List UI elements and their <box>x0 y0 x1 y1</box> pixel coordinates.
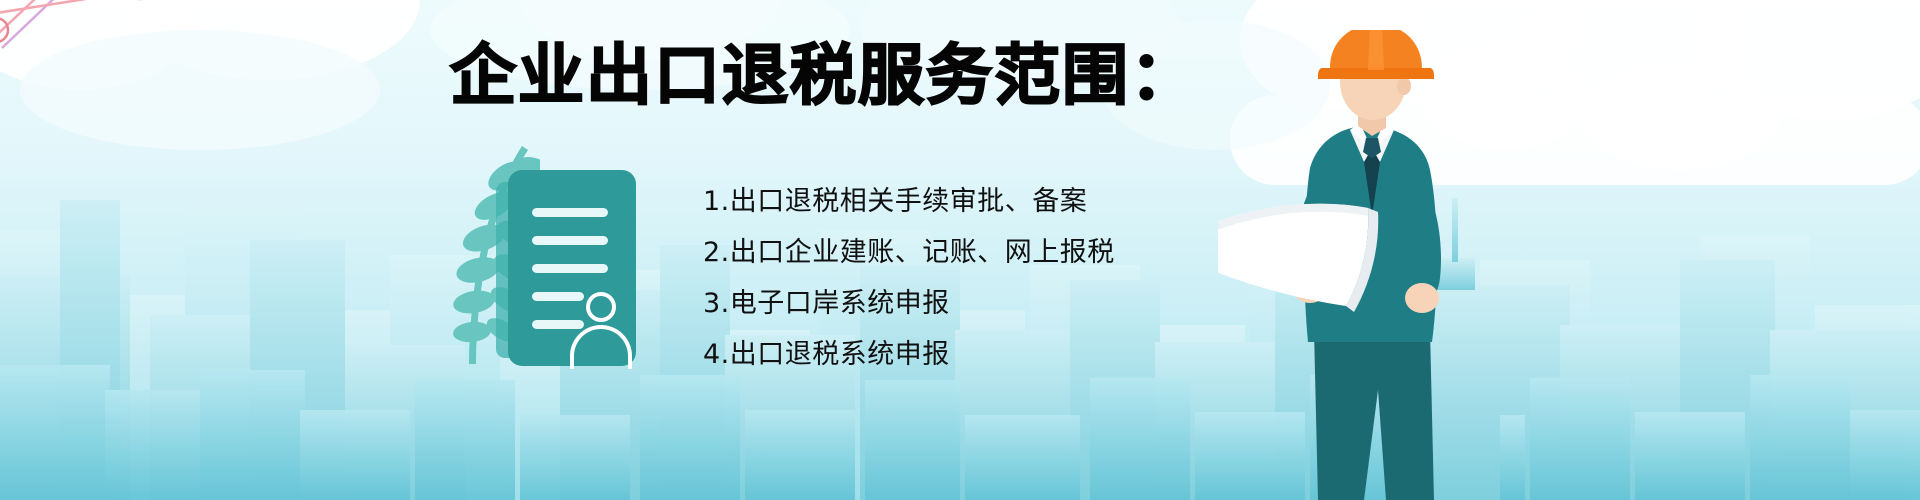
person-head-icon <box>586 292 616 322</box>
businessman-with-blueprint-illustration <box>1218 30 1548 500</box>
list-item: 1.出口退税相关手续审批、备案 <box>703 176 1223 227</box>
certificate-text-line <box>532 264 608 273</box>
geometric-lines-decoration <box>0 0 220 56</box>
export-tax-rebate-banner: 企业出口退税服务范围： 1.出口退税相关手续审批、备案 2.出口企业建账、记账、… <box>0 0 1920 500</box>
certificate-document-icon <box>508 170 636 366</box>
person-body-icon <box>570 325 632 369</box>
certificate-text-line <box>532 320 584 329</box>
list-item: 2.出口企业建账、记账、网上报税 <box>703 227 1223 278</box>
page-title: 企业出口退税服务范围： <box>450 40 1198 112</box>
certificate-text-line <box>532 236 608 245</box>
list-item: 3.电子口岸系统申报 <box>703 278 1223 329</box>
service-scope-list: 1.出口退税相关手续审批、备案 2.出口企业建账、记账、网上报税 3.电子口岸系… <box>703 176 1223 380</box>
list-item: 4.出口退税系统申报 <box>703 329 1223 380</box>
certificate-text-line <box>532 208 608 217</box>
certificate-text-line <box>532 292 584 301</box>
